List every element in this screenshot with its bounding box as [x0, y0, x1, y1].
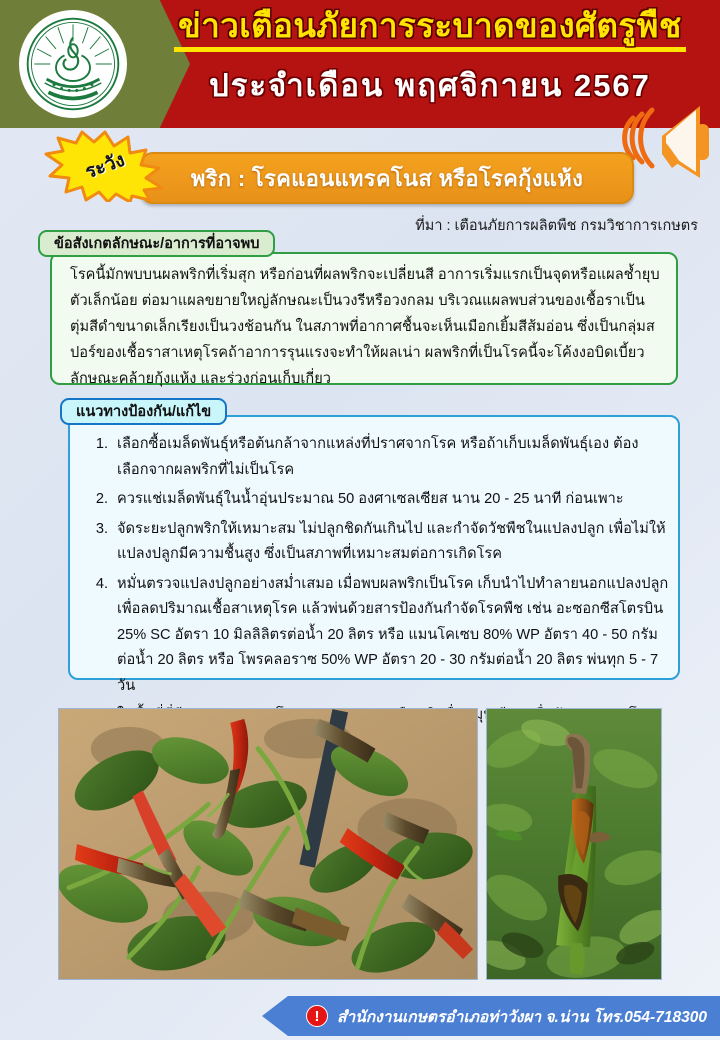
disease-title: พริก : โรคแอนแทรคโนส หรือโรคกุ้งแห้ง — [191, 161, 583, 196]
prevention-item-number: 3. — [82, 517, 117, 568]
prevention-item-number: 2. — [82, 487, 117, 513]
header-title-block: ข่าวเตือนภัยการระบาดของศัตรูพืช ประจำเดื… — [150, 8, 710, 110]
symptoms-section-tab: ข้อสังเกตลักษณะ/อาการที่อาจพบ — [38, 230, 275, 257]
prevention-item-text: ควรแช่เมล็ดพันธุ์ในน้ำอุ่นประมาณ 50 องศา… — [117, 487, 670, 513]
prevention-list-item: 4.หมั่นตรวจแปลงปลูกอย่างสม่ำเสมอ เมื่อพบ… — [82, 572, 670, 700]
prevention-list-item: 3.จัดระยะปลูกพริกให้เหมาะสม ไม่ปลูกชิดกั… — [82, 517, 670, 568]
disease-title-banner: พริก : โรคแอนแทรคโนส หรือโรคกุ้งแห้ง — [140, 152, 634, 204]
source-credit: ที่มา : เตือนภัยการผลิตพืช กรมวิชาการเกษ… — [415, 214, 698, 237]
prevention-item-text: เลือกซื้อเมล็ดพันธุ์หรือต้นกล้าจากแหล่งท… — [117, 432, 670, 483]
single-chili-pod-anthracnose-closeup-photo — [486, 708, 662, 980]
symptoms-body-text: โรคนี้มักพบบนผลพริกที่เริ่มสุก หรือก่อนท… — [70, 262, 662, 392]
poster-header: ข่าวเตือนภัยการระบาดของศัตรูพืช ประจำเดื… — [0, 0, 720, 128]
exclamation-circle-icon: ! — [306, 1005, 328, 1027]
footer-contact-text: สำนักงานเกษตรอำเภอท่าวังผา จ.น่าน โทร.05… — [337, 1004, 707, 1029]
warning-starburst-icon — [42, 130, 168, 202]
prevention-list: 1.เลือกซื้อเมล็ดพันธุ์หรือต้นกล้าจากแหล่… — [82, 432, 670, 733]
department-of-agriculture-seal — [19, 10, 127, 118]
prevention-item-number: 4. — [82, 572, 117, 700]
megaphone-icon — [622, 96, 718, 192]
prevention-item-number: 1. — [82, 432, 117, 483]
poster-page: ข่าวเตือนภัยการระบาดของศัตรูพืช ประจำเดื… — [0, 0, 720, 1040]
prevention-section-tab: แนวทางป้องกัน/แก้ไข — [60, 398, 227, 425]
poster-main-title: ข่าวเตือนภัยการระบาดของศัตรูพืช — [174, 8, 686, 52]
footer-contact-bar: ! สำนักงานเกษตรอำเภอท่าวังผา จ.น่าน โทร.… — [262, 996, 720, 1036]
prevention-item-text: จัดระยะปลูกพริกให้เหมาะสม ไม่ปลูกชิดกันเ… — [117, 517, 670, 568]
prevention-item-text: หมั่นตรวจแปลงปลูกอย่างสม่ำเสมอ เมื่อพบผล… — [117, 572, 670, 700]
chili-plant-anthracnose-lesions-photo — [58, 708, 478, 980]
photo-gallery — [58, 708, 662, 980]
prevention-list-item: 2.ควรแช่เมล็ดพันธุ์ในน้ำอุ่นประมาณ 50 อง… — [82, 487, 670, 513]
prevention-list-item: 1.เลือกซื้อเมล็ดพันธุ์หรือต้นกล้าจากแหล่… — [82, 432, 670, 483]
